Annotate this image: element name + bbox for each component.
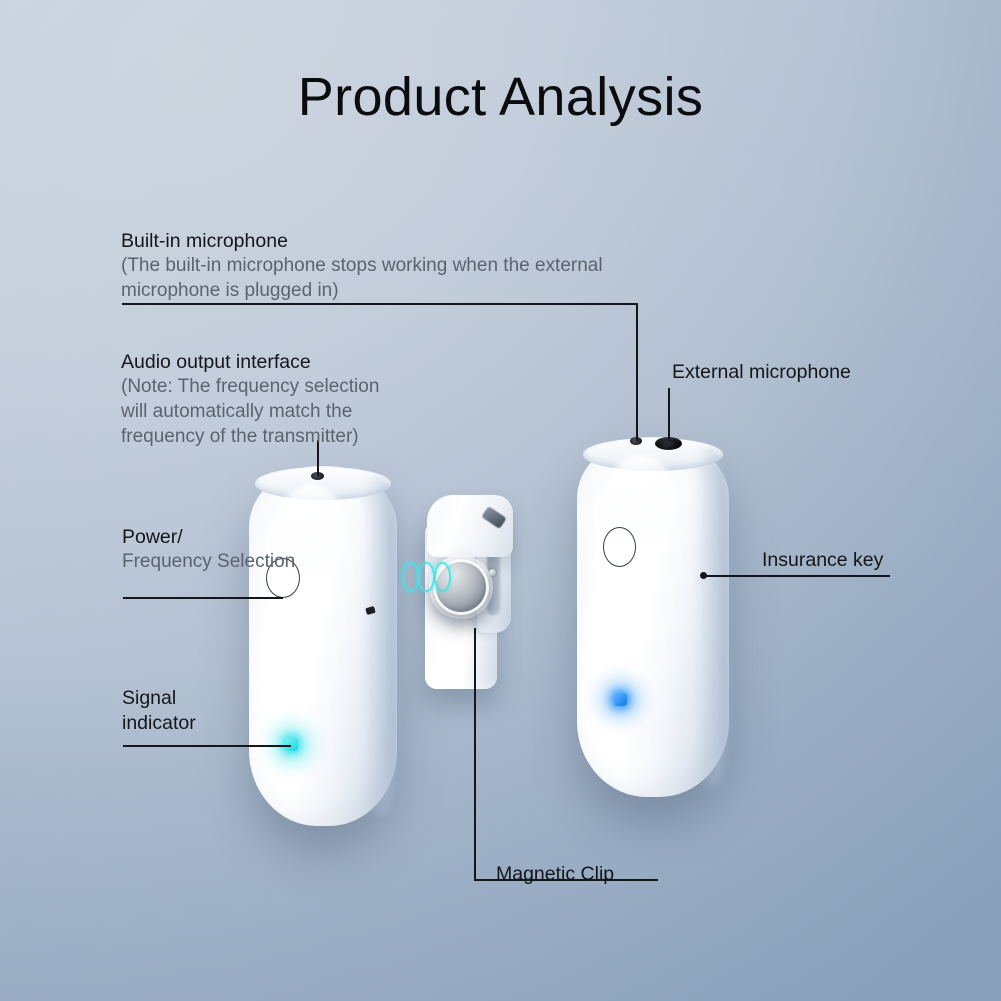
callout-audio-output-interface-note: (Note: The frequency selection will auto… bbox=[121, 375, 411, 449]
callout-insurance-key: Insurance key bbox=[762, 548, 962, 573]
device-left-body bbox=[249, 466, 397, 826]
leader-built-in-microphone-v bbox=[636, 303, 638, 441]
callout-built-in-microphone-note: (The built-in microphone stops working w… bbox=[121, 254, 661, 303]
callout-external-microphone-title: External microphone bbox=[672, 360, 932, 385]
callout-power-frequency-selection-note: Frequency Selection bbox=[122, 550, 302, 575]
page-title: Product Analysis bbox=[0, 66, 1001, 128]
leader-signal-indicator-h bbox=[123, 745, 291, 747]
device-left-edge-shadow bbox=[364, 477, 397, 815]
magnetic-wave-icon-1 bbox=[402, 562, 419, 592]
callout-magnetic-clip-title: Magnetic Clip bbox=[496, 862, 716, 887]
leader-magnetic-clip-v bbox=[474, 628, 476, 880]
leader-external-microphone-v bbox=[668, 388, 670, 441]
device-right-body bbox=[577, 437, 729, 797]
callout-power-frequency-selection-title: Power/ bbox=[122, 525, 302, 550]
product-analysis-diagram: Product Analysis bbox=[0, 0, 1001, 1001]
magnetic-wave-icon-3 bbox=[434, 562, 451, 592]
callout-signal-indicator: Signal indicator bbox=[122, 686, 252, 737]
callout-signal-indicator-title: Signal indicator bbox=[122, 686, 252, 737]
magnetic-wave-icon-2 bbox=[418, 562, 435, 592]
leader-power-frequency-h bbox=[123, 597, 283, 599]
signal-indicator-led-right bbox=[614, 693, 627, 706]
callout-built-in-microphone-title: Built-in microphone bbox=[121, 229, 661, 254]
callout-power-frequency-selection: Power/ Frequency Selection bbox=[122, 525, 302, 575]
callout-external-microphone: External microphone bbox=[672, 360, 932, 385]
device-right-edge-shadow bbox=[696, 448, 729, 786]
callout-magnetic-clip: Magnetic Clip bbox=[496, 862, 716, 887]
callout-built-in-microphone: Built-in microphone (The built-in microp… bbox=[121, 229, 661, 304]
leader-insurance-key-h bbox=[705, 575, 890, 577]
callout-insurance-key-title: Insurance key bbox=[762, 548, 962, 573]
callout-audio-output-interface-title: Audio output interface bbox=[121, 350, 411, 375]
power-frequency-button-right[interactable] bbox=[603, 527, 636, 567]
callout-audio-output-interface: Audio output interface (Note: The freque… bbox=[121, 350, 411, 449]
